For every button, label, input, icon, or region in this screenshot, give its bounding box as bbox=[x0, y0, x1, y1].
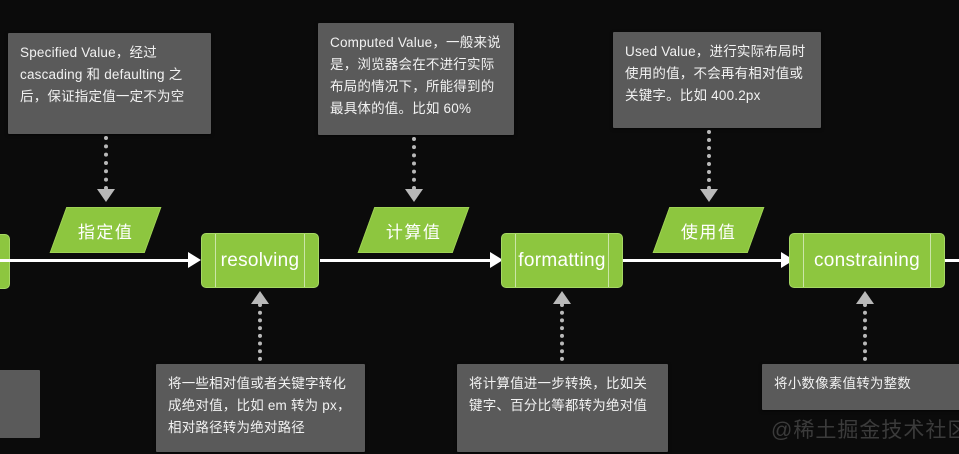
flow-arrow-2-line bbox=[320, 259, 492, 262]
note-computed-value: Computed Value，一般来说是，浏览器会在不进行实际布局的情况下，所能… bbox=[318, 23, 514, 135]
value-label-specified: 指定值 bbox=[78, 218, 134, 243]
connector-constraining-dotted bbox=[863, 303, 867, 361]
connector-computed-dotted bbox=[412, 137, 416, 190]
watermark-text: @稀土掘金技术社区 bbox=[771, 414, 959, 444]
flow-arrow-1-head bbox=[188, 252, 201, 268]
value-node-used: 使用值 bbox=[653, 207, 765, 253]
formatting-left-bar bbox=[515, 234, 516, 287]
formatting-right-bar bbox=[608, 234, 609, 287]
process-node-constraining: constraining bbox=[789, 233, 945, 288]
note-resolving-desc: 将一些相对值或者关键字转化成绝对值，比如 em 转为 px，相对路径转为绝对路径 bbox=[156, 364, 365, 452]
connector-formatting-arrowhead bbox=[553, 291, 571, 304]
constraining-right-bar bbox=[930, 234, 931, 287]
value-node-computed: 计算值 bbox=[358, 207, 470, 253]
process-label-formatting: formatting bbox=[518, 250, 605, 272]
note-constraining-desc: 将小数像素值转为整数 bbox=[762, 364, 959, 410]
resolving-right-bar bbox=[304, 234, 305, 287]
process-node-resolving: resolving bbox=[201, 233, 319, 288]
connector-resolving-dotted bbox=[258, 303, 262, 361]
connector-specified-dotted bbox=[104, 136, 108, 190]
process-node-formatting: formatting bbox=[501, 233, 623, 288]
flow-arrow-4-line bbox=[944, 259, 959, 262]
connector-specified-arrowhead bbox=[97, 189, 115, 202]
diagram-canvas: Specified Value，经过 cascading 和 defaultin… bbox=[0, 0, 959, 454]
note-partial-left: 使用 bbox=[0, 370, 40, 438]
constraining-left-bar bbox=[803, 234, 804, 287]
connector-computed-arrowhead bbox=[405, 189, 423, 202]
value-label-used: 使用值 bbox=[681, 218, 737, 243]
connector-used-arrowhead bbox=[700, 189, 718, 202]
connector-formatting-dotted bbox=[560, 303, 564, 361]
value-label-computed: 计算值 bbox=[386, 218, 442, 243]
flow-arrow-1-line bbox=[0, 259, 190, 262]
note-formatting-desc: 将计算值进一步转换，比如关键字、百分比等都转为绝对值 bbox=[457, 364, 668, 452]
connector-resolving-arrowhead bbox=[251, 291, 269, 304]
process-label-constraining: constraining bbox=[814, 250, 920, 272]
process-label-resolving: resolving bbox=[221, 250, 300, 272]
connector-used-dotted bbox=[707, 130, 711, 190]
note-used-value: Used Value，进行实际布局时使用的值，不会再有相对值或关键字。比如 40… bbox=[613, 32, 821, 128]
resolving-left-bar bbox=[215, 234, 216, 287]
connector-constraining-arrowhead bbox=[856, 291, 874, 304]
value-node-specified: 指定值 bbox=[50, 207, 162, 253]
note-specified-value: Specified Value，经过 cascading 和 defaultin… bbox=[8, 33, 211, 134]
flow-arrow-3-line bbox=[623, 259, 783, 262]
